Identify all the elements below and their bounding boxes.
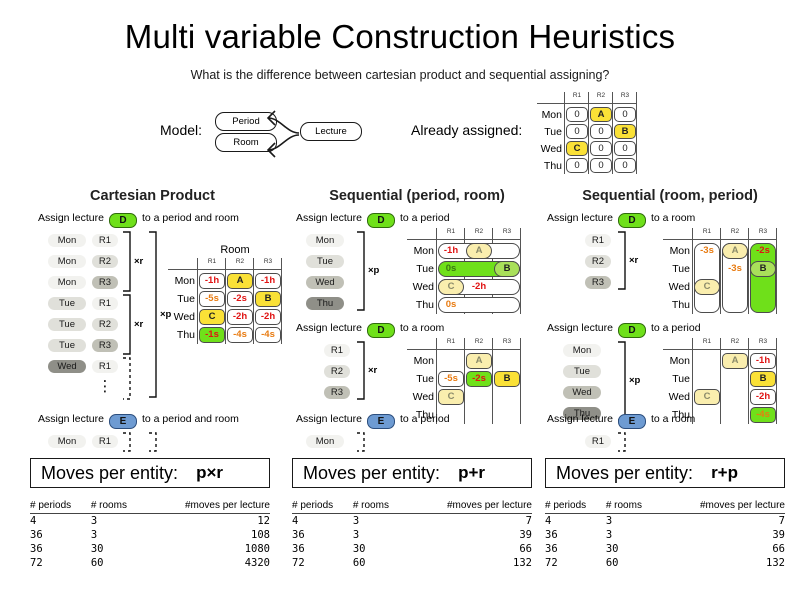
moves-cell: 3: [606, 528, 659, 542]
moves-col-header: #moves per lecture: [406, 498, 532, 514]
moves-table-1: # periods# rooms#moves per lecture437363…: [292, 498, 532, 570]
spr-bar-label: -2h: [466, 279, 492, 295]
lecture-badge-D[interactable]: D: [618, 213, 646, 228]
moves-row: 36339: [292, 528, 532, 542]
grid-row-header-Wed: Wed: [168, 310, 195, 324]
moves-formula: p×r: [178, 463, 223, 483]
grid-row-header-Tue: Tue: [537, 125, 562, 139]
grid-row-header-Wed: Wed: [663, 390, 690, 404]
moves-formula: r+p: [693, 463, 738, 483]
assign-prefix: Assign lecture: [38, 413, 104, 425]
moves-cell: 7: [406, 514, 532, 529]
brace-multiplier: ×r: [629, 255, 638, 266]
assign-line-srp-d-period: Assign lectureDto a period: [547, 322, 701, 338]
spr-bar-chip: A: [466, 243, 492, 259]
moves-cell: 39: [406, 528, 532, 542]
cartesian-brace-r-next: [122, 432, 134, 452]
moves-cell: 36: [292, 528, 353, 542]
assign-prefix: Assign lecture: [547, 212, 613, 224]
grid-column-divider: [720, 228, 721, 314]
grid-column-header-R2: R2: [465, 338, 493, 346]
brace-multiplier: ×p: [629, 375, 640, 386]
moves-col-header: # periods: [30, 498, 91, 514]
moves-col-header: #moves per lecture: [144, 498, 270, 514]
moves-cell: 3: [353, 514, 406, 529]
grid-header-rule: [168, 269, 282, 270]
grid-cell: A: [227, 273, 253, 289]
moves-row: 36301080: [30, 542, 270, 556]
grid-row-header-Thu: Thu: [663, 298, 690, 312]
grid-cell: 0: [566, 107, 588, 122]
srp-period-tag: Wed: [563, 386, 601, 399]
grid-column-divider: [564, 92, 565, 174]
srp-grid-room: R1R2R3MonTueWedThu-3sC-3sA-2sB: [663, 228, 777, 314]
moves-cell: 30: [606, 542, 659, 556]
moves-cell: 1080: [144, 542, 270, 556]
grid-column-divider: [225, 258, 226, 344]
assign-line-spr-d-period: Assign lectureDto a period: [296, 212, 450, 228]
moves-col-header: # periods: [292, 498, 353, 514]
moves-row: 4312: [30, 514, 270, 529]
grid-column-divider: [720, 338, 721, 424]
moves-cell: 39: [659, 528, 785, 542]
grid-column-divider: [612, 92, 613, 174]
lecture-badge-E[interactable]: E: [618, 414, 646, 429]
page-title: Multi variable Construction Heuristics: [0, 18, 800, 56]
assign-suffix: to a period and room: [142, 212, 239, 224]
moves-cell: 7: [659, 514, 785, 529]
moves-row: 363066: [292, 542, 532, 556]
grid-cell: 0: [590, 158, 612, 173]
grid-row-header-Wed: Wed: [663, 280, 690, 294]
moves-cell: 72: [30, 556, 91, 570]
already-assigned-grid: R1R2R3MonTueWedThu0A000BC00000: [537, 92, 637, 174]
model-label: Model:: [160, 122, 202, 138]
moves-row: 363108: [30, 528, 270, 542]
assign-prefix: Assign lecture: [38, 212, 104, 224]
grid-column-header-R3: R3: [749, 338, 777, 346]
moves-cell: 72: [545, 556, 606, 570]
grid-row-header-Tue: Tue: [663, 372, 690, 386]
grid-column-divider: [692, 228, 693, 314]
spr-bar-label: -1h: [438, 243, 464, 259]
grid-row-header-Wed: Wed: [407, 390, 434, 404]
grid-column-divider: [748, 338, 749, 424]
grid-row-header-Tue: Tue: [663, 262, 690, 276]
grid-cell: -1h: [255, 273, 281, 289]
grid-column-header-R1: R1: [565, 92, 589, 100]
srp-grid-period: R1R2R3MonTueWedThuA-1hBC-2h-4s: [663, 338, 777, 424]
cartesian-room-tag-2: R1: [92, 435, 118, 448]
spr-bar-label: 0s: [438, 297, 464, 313]
moves-row: 7260132: [545, 556, 785, 570]
moves-cell: 66: [406, 542, 532, 556]
srp-bar-label: -3s: [694, 243, 720, 259]
grid-column-header-R3: R3: [613, 92, 637, 100]
moves-table: # periods# rooms#moves per lecture437363…: [292, 498, 532, 570]
cartesian-brace-r-3: [122, 357, 134, 400]
grid-column-header-R2: R2: [589, 92, 613, 100]
grid-cell: A: [590, 107, 612, 122]
grid-column-header-R3: R3: [493, 338, 521, 346]
cartesian-period-tag: Tue: [48, 297, 86, 310]
cartesian-grid: R1R2R3MonTueWedThu-1hA-1h-5s-2sBC-2h-2h-…: [168, 258, 282, 344]
assign-suffix: to a period: [400, 212, 450, 224]
grid-cell: -2s: [227, 291, 253, 307]
srp-room-tag: R3: [585, 276, 611, 289]
spr-bar-label: 0s: [438, 261, 464, 277]
grid-row-header-Thu: Thu: [168, 328, 195, 342]
cartesian-period-tag: Wed: [48, 360, 86, 373]
assign-line-cartesian-d: Assign lectureDto a period and room: [38, 212, 239, 228]
grid-column-divider: [748, 228, 749, 314]
moves-cell: 4: [292, 514, 353, 529]
grid-row-header-Tue: Tue: [407, 262, 434, 276]
cartesian-brace-p-next: [148, 432, 160, 452]
page-subtitle: What is the difference between cartesian…: [0, 68, 800, 82]
assign-line-spr-d-room: Assign lectureDto a room: [296, 322, 444, 338]
grid-column-header-R3: R3: [254, 258, 282, 266]
spr-brace-next: [356, 432, 368, 452]
spr-grid-period: R1R2R3MonTueWedThu-1hA0sB-2hC0s: [407, 228, 521, 314]
assign-line-srp-d-room: Assign lectureDto a room: [547, 212, 695, 228]
srp-brace-r: [617, 231, 629, 290]
grid-right-border: [776, 338, 777, 424]
grid-cell: B: [750, 371, 776, 387]
moves-col-header: # rooms: [91, 498, 144, 514]
lecture-badge-D[interactable]: D: [367, 323, 395, 338]
grid-column-header-R1: R1: [198, 258, 226, 266]
moves-col-header: # rooms: [606, 498, 659, 514]
grid-column-header-R2: R2: [721, 228, 749, 236]
moves-label: Moves per entity:: [546, 463, 693, 484]
cartesian-room-tag: R1: [92, 297, 118, 310]
spr-room-tag: R3: [324, 386, 350, 399]
srp-room-tag-2: R1: [585, 435, 611, 448]
moves-label: Moves per entity:: [293, 463, 440, 484]
assign-suffix: to a period and room: [142, 413, 239, 425]
srp-bar-chip: A: [722, 243, 748, 259]
assign-line-cartesian-e: Assign lectureEto a period and room: [38, 413, 239, 429]
moves-row: 7260132: [292, 556, 532, 570]
cartesian-period-tag-2: Mon: [48, 435, 86, 448]
column-title-cartesian: Cartesian Product: [30, 188, 275, 204]
grid-cell: 0: [590, 141, 612, 156]
cartesian-period-tag: Tue: [48, 339, 86, 352]
column-title-seq-period-room: Sequential (period, room): [292, 188, 542, 204]
spr-period-tag: Mon: [306, 234, 344, 247]
moves-cell: 60: [606, 556, 659, 570]
cartesian-room-tag: R3: [92, 339, 118, 352]
grid-cell: 0: [614, 141, 636, 156]
cartesian-room-tag: R3: [92, 276, 118, 289]
grid-column-header-R3: R3: [493, 228, 521, 236]
grid-cell: C: [199, 309, 225, 325]
already-assigned-label: Already assigned:: [411, 122, 522, 138]
grid-cell: -2h: [750, 389, 776, 405]
grid-cell: 0: [566, 124, 588, 139]
grid-column-divider: [492, 338, 493, 424]
moves-box-1: Moves per entity:p+r: [292, 458, 532, 488]
spr-brace-r: [356, 341, 368, 400]
grid-row-header-Wed: Wed: [407, 280, 434, 294]
moves-table: # periods# rooms#moves per lecture431236…: [30, 498, 270, 570]
lecture-badge-E[interactable]: E: [109, 414, 137, 429]
brace-multiplier: ×r: [134, 319, 143, 330]
grid-column-header-R3: R3: [749, 228, 777, 236]
cartesian-room-tag: R1: [92, 360, 118, 373]
grid-cell: -4s: [750, 407, 776, 423]
grid-cell: B: [614, 124, 636, 139]
brace-multiplier: ×r: [134, 256, 143, 267]
grid-cell: 0: [614, 107, 636, 122]
grid-right-border: [520, 228, 521, 314]
grid-cell: 0: [614, 158, 636, 173]
moves-cell: 3: [91, 528, 144, 542]
moves-box-0: Moves per entity:p×r: [30, 458, 270, 488]
spr-bar-chip: B: [494, 261, 520, 277]
assign-prefix: Assign lecture: [296, 322, 362, 334]
grid-cell: -5s: [438, 371, 464, 387]
spr-room-tag: R2: [324, 365, 350, 378]
moves-formula: p+r: [440, 463, 485, 483]
model-relation-arrows: [255, 105, 315, 165]
spr-period-tag: Wed: [306, 276, 344, 289]
moves-cell: 132: [406, 556, 532, 570]
cartesian-period-tag: Mon: [48, 234, 86, 247]
moves-table-2: # periods# rooms#moves per lecture437363…: [545, 498, 785, 570]
moves-cell: 72: [292, 556, 353, 570]
grid-row-header-Mon: Mon: [407, 244, 434, 258]
cartesian-room-tag: R2: [92, 255, 118, 268]
spr-grid-room: R1R2R3MonTueWedThuA-5s-2sBC: [407, 338, 521, 424]
grid-column-divider: [436, 338, 437, 424]
moves-cell: 36: [30, 542, 91, 556]
grid-cell: -4s: [227, 327, 253, 343]
grid-right-border: [281, 258, 282, 344]
grid-row-header-Mon: Mon: [663, 244, 690, 258]
grid-column-header-R1: R1: [437, 228, 465, 236]
brace-multiplier: ×p: [368, 265, 379, 276]
moves-cell: 30: [91, 542, 144, 556]
moves-cell: 132: [659, 556, 785, 570]
srp-bar-label: -2s: [750, 243, 776, 259]
grid-cell: -2h: [227, 309, 253, 325]
cartesian-grid-caption: Room: [195, 244, 275, 256]
moves-cell: 60: [91, 556, 144, 570]
grid-cell: A: [722, 353, 748, 369]
spr-bar-chip: C: [438, 279, 464, 295]
grid-row-header-Thu: Thu: [407, 298, 434, 312]
grid-row-header-Wed: Wed: [537, 142, 562, 156]
srp-brace-p: [617, 341, 629, 421]
grid-column-divider: [197, 258, 198, 344]
cartesian-room-tag: R2: [92, 318, 118, 331]
assign-suffix: to a room: [400, 322, 444, 334]
spr-room-tag: R1: [324, 344, 350, 357]
srp-room-tag: R1: [585, 234, 611, 247]
cartesian-room-tag: R1: [92, 234, 118, 247]
assign-line-srp-e: Assign lectureEto a room: [547, 413, 695, 429]
moves-cell: 36: [292, 542, 353, 556]
grid-cell: B: [255, 291, 281, 307]
moves-cell: 4: [545, 514, 606, 529]
moves-cell: 3: [606, 514, 659, 529]
srp-brace-next: [617, 432, 629, 452]
moves-col-header: # rooms: [353, 498, 406, 514]
srp-bar-chip: C: [694, 279, 720, 295]
lecture-badge-D[interactable]: D: [367, 213, 395, 228]
grid-row-header-Tue: Tue: [407, 372, 434, 386]
assign-suffix: to a period: [651, 322, 701, 334]
grid-column-header-R2: R2: [465, 228, 493, 236]
grid-column-header-R2: R2: [721, 338, 749, 346]
assign-prefix: Assign lecture: [547, 413, 613, 425]
grid-row-header-Mon: Mon: [407, 354, 434, 368]
grid-cell: -4s: [255, 327, 281, 343]
moves-cell: 30: [353, 542, 406, 556]
spr-brace-p: [356, 231, 368, 311]
grid-header-rule: [663, 349, 777, 350]
grid-cell: A: [466, 353, 492, 369]
spr-period-tag: Thu: [306, 297, 344, 310]
grid-column-header-R1: R1: [693, 338, 721, 346]
grid-cell: -5s: [199, 291, 225, 307]
cartesian-brace-p: [148, 231, 160, 398]
srp-room-tag: R2: [585, 255, 611, 268]
grid-header-rule: [407, 349, 521, 350]
grid-header-rule: [407, 239, 521, 240]
grid-row-header-Tue: Tue: [168, 292, 195, 306]
assign-prefix: Assign lecture: [547, 322, 613, 334]
moves-box-2: Moves per entity:r+p: [545, 458, 785, 488]
grid-cell: B: [494, 371, 520, 387]
srp-period-tag: Tue: [563, 365, 601, 378]
cartesian-period-tag: Mon: [48, 276, 86, 289]
grid-row-header-Mon: Mon: [663, 354, 690, 368]
grid-row-header-Thu: Thu: [537, 159, 562, 173]
grid-row-header-Mon: Mon: [537, 108, 562, 122]
assign-suffix: to a room: [651, 212, 695, 224]
assign-line-spr-e: Assign lectureEto a period: [296, 413, 450, 429]
grid-column-divider: [253, 258, 254, 344]
srp-period-tag: Mon: [563, 344, 601, 357]
brace-multiplier: ×r: [368, 365, 377, 376]
grid-row-header-Mon: Mon: [168, 274, 195, 288]
grid-column-header-R1: R1: [693, 228, 721, 236]
moves-row: 72604320: [30, 556, 270, 570]
moves-cell: 36: [30, 528, 91, 542]
moves-cell: 3: [353, 528, 406, 542]
grid-column-divider: [464, 338, 465, 424]
grid-column-header-R2: R2: [226, 258, 254, 266]
assign-prefix: Assign lecture: [296, 212, 362, 224]
lecture-badge-D[interactable]: D: [109, 213, 137, 228]
cartesian-period-tag: Tue: [48, 318, 86, 331]
assign-suffix: to a period: [400, 413, 450, 425]
grid-cell: -2s: [466, 371, 492, 387]
moves-row: 363066: [545, 542, 785, 556]
lecture-badge-E[interactable]: E: [367, 414, 395, 429]
cartesian-ellipsis: ⋮: [92, 385, 118, 389]
lecture-badge-D[interactable]: D: [618, 323, 646, 338]
assign-suffix: to a room: [651, 413, 695, 425]
grid-column-header-R1: R1: [437, 338, 465, 346]
grid-column-divider: [436, 228, 437, 314]
moves-cell: 12: [144, 514, 270, 529]
srp-bar-chip: B: [750, 261, 776, 277]
moves-cell: 66: [659, 542, 785, 556]
grid-header-rule: [663, 239, 777, 240]
grid-cell: -2h: [255, 309, 281, 325]
moves-row: 36339: [545, 528, 785, 542]
srp-bar-label: -3s: [722, 261, 748, 277]
grid-header-rule: [537, 103, 637, 104]
grid-cell: -1h: [199, 273, 225, 289]
cartesian-brace-r-2: [122, 294, 134, 355]
moves-row: 437: [545, 514, 785, 529]
moves-table: # periods# rooms#moves per lecture437363…: [545, 498, 785, 570]
moves-cell: 36: [545, 528, 606, 542]
column-title-seq-room-period: Sequential (room, period): [545, 188, 795, 204]
grid-cell: C: [438, 389, 464, 405]
spr-period-tag-2: Mon: [306, 435, 344, 448]
moves-cell: 4: [30, 514, 91, 529]
cartesian-period-tag: Mon: [48, 255, 86, 268]
grid-cell: 0: [566, 158, 588, 173]
moves-table-0: # periods# rooms#moves per lecture431236…: [30, 498, 270, 570]
cartesian-brace-r-1: [122, 231, 134, 292]
moves-col-header: # periods: [545, 498, 606, 514]
moves-label: Moves per entity:: [31, 463, 178, 484]
grid-cell: -1s: [199, 327, 225, 343]
moves-cell: 60: [353, 556, 406, 570]
spr-period-tag: Tue: [306, 255, 344, 268]
assign-prefix: Assign lecture: [296, 413, 362, 425]
moves-col-header: #moves per lecture: [659, 498, 785, 514]
grid-column-divider: [588, 92, 589, 174]
grid-column-divider: [692, 338, 693, 424]
grid-right-border: [776, 228, 777, 314]
moves-cell: 3: [91, 514, 144, 529]
grid-cell: 0: [590, 124, 612, 139]
moves-row: 437: [292, 514, 532, 529]
grid-cell: C: [694, 389, 720, 405]
grid-cell: -1h: [750, 353, 776, 369]
moves-cell: 108: [144, 528, 270, 542]
moves-cell: 36: [545, 542, 606, 556]
moves-cell: 4320: [144, 556, 270, 570]
grid-cell: C: [566, 141, 588, 156]
grid-right-border: [636, 92, 637, 174]
grid-right-border: [520, 338, 521, 424]
